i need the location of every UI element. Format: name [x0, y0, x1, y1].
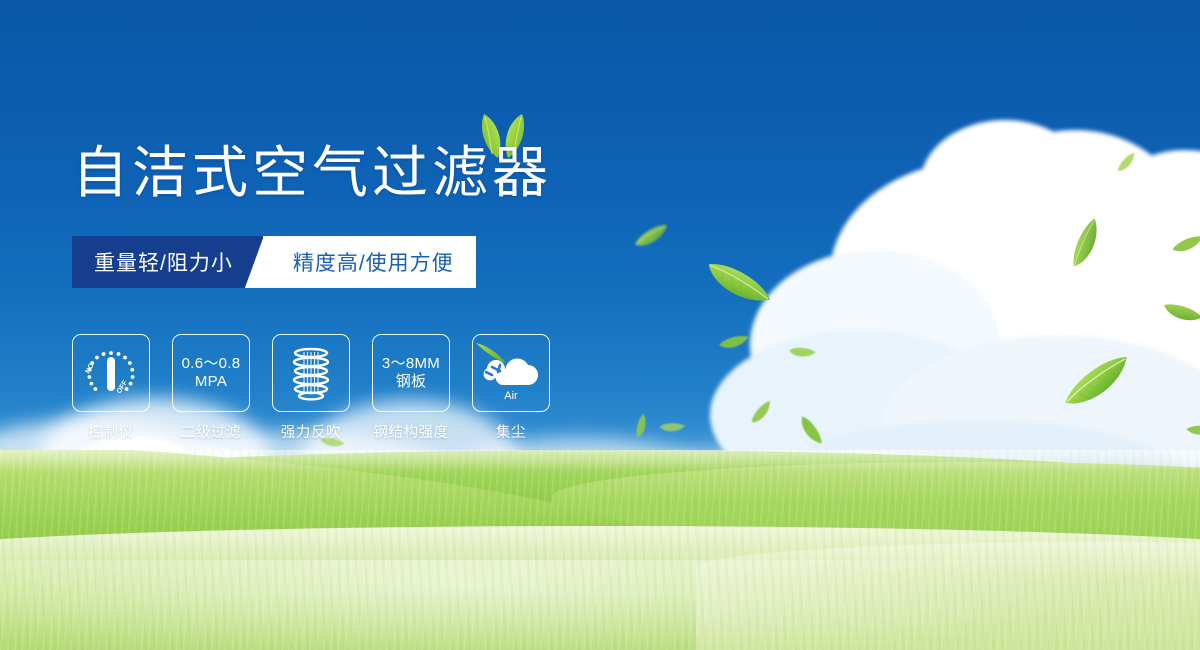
feature-icon-box: Air: [472, 334, 550, 412]
horizon-blend: [0, 450, 1200, 472]
stacked-discs-icon: [283, 344, 339, 402]
subtitle-right: 精度高/使用方便: [263, 236, 476, 288]
feature-icon-box: 0.6～0.8 MPA: [172, 334, 250, 412]
feature-item-backblow[interactable]: 强力反吹: [272, 334, 350, 442]
feature-item-controller[interactable]: NO OFF 控制仪: [72, 334, 150, 442]
feature-item-dust[interactable]: Air 集尘: [472, 334, 550, 442]
feature-label: 控制仪: [88, 421, 133, 442]
dial-on-label: NO: [85, 362, 96, 375]
feature-icon-box: 3～8MM 钢板: [372, 334, 450, 412]
feature-label: 强力反吹: [281, 421, 341, 442]
feature-icon-box: NO OFF: [72, 334, 150, 412]
feature-text-line1: 3～8MM: [382, 355, 440, 372]
feature-text-line2: MPA: [182, 373, 241, 391]
feature-label: 集尘: [496, 421, 526, 442]
feature-item-filtration[interactable]: 0.6～0.8 MPA 二级过滤: [172, 334, 250, 442]
grass-field: [0, 450, 1200, 650]
product-banner: 自洁式空气过滤器 重量轻/阻力小 精度高/使用方便: [0, 0, 1200, 650]
grass-texture: [0, 450, 1200, 650]
feature-icon-box: [272, 334, 350, 412]
feature-label: 钢结构强度: [373, 421, 449, 442]
dial-off-label: OFF: [116, 379, 130, 395]
feature-item-steel[interactable]: 3～8MM 钢板 钢结构强度: [372, 334, 450, 442]
subtitle-left: 重量轻/阻力小: [72, 236, 263, 288]
page-title: 自洁式空气过滤器: [72, 145, 552, 201]
air-caption: Air: [504, 390, 518, 402]
feature-label: 二级过滤: [181, 421, 241, 442]
feature-text-line1: 0.6～0.8: [182, 355, 241, 372]
steel-plate-text-icon: 3～8MM 钢板: [382, 355, 440, 390]
cloud-air-icon: Air: [474, 341, 548, 403]
pressure-text-icon: 0.6～0.8 MPA: [182, 355, 241, 390]
gauge-dial-icon: NO OFF: [80, 345, 142, 401]
feature-list: NO OFF 控制仪 0.6～0.8 MPA 二级过滤: [72, 334, 550, 442]
feature-text-line2: 钢板: [382, 373, 440, 391]
subtitle-ribbon: 重量轻/阻力小 精度高/使用方便: [72, 236, 476, 288]
